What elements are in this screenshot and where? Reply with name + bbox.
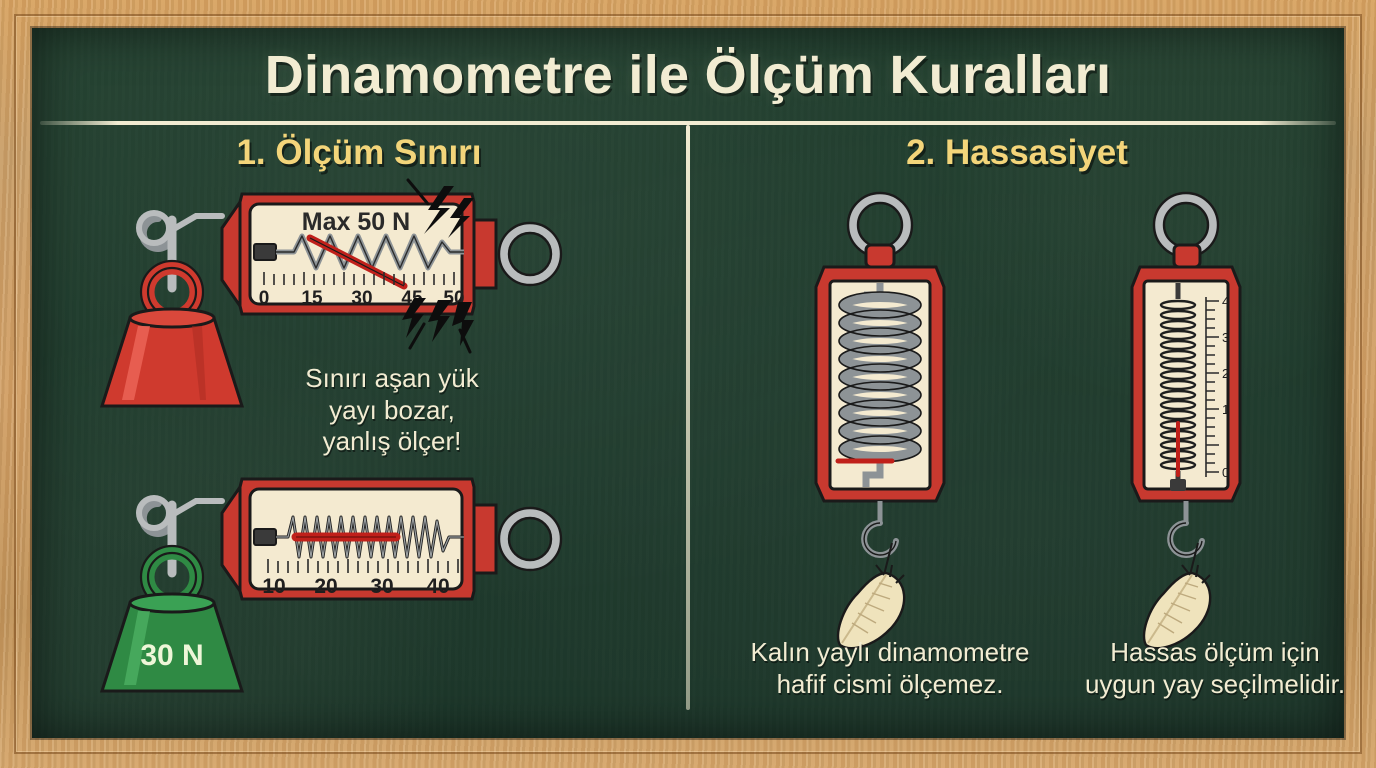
scale-tick-label: 10 (262, 575, 285, 598)
feather-icon (838, 565, 904, 648)
caption-line: Hassas ölçüm için (1050, 637, 1344, 669)
dyn-left-taper (222, 202, 240, 306)
max-capacity-label: Max 50 N (302, 208, 410, 236)
spring-anchor-block (254, 529, 276, 545)
scale-tick-label: 40 (426, 575, 449, 598)
scale-tick-label: 30 (351, 288, 372, 309)
dyn-left-taper (222, 487, 240, 591)
page-title: Dinamometre ile Ölçüm Kuralları (32, 44, 1344, 106)
scale-tick-label: 0 (1222, 465, 1229, 480)
top-nub (1174, 245, 1200, 267)
section-heading-1: 1. Ölçüm Sınırı (32, 133, 686, 173)
thick-spring-caption: Kalın yaylı dinamometre hafif cismi ölçe… (710, 637, 1070, 700)
scale-tick-label: 30 (370, 575, 393, 598)
normal-dynamometer-group: 30 N (72, 465, 632, 725)
caption-line: yayı bozar, (242, 395, 542, 427)
ring-outline-inner (858, 203, 902, 247)
scale-tick-label: 2 (1222, 366, 1229, 381)
scale-tick-label: 4 (1222, 294, 1229, 309)
chalkboard: Dinamometre ile Ölçüm Kuralları 1. Ölçüm… (32, 28, 1344, 738)
top-nub (866, 245, 894, 267)
ring-outline-inner (509, 518, 551, 560)
scale-tick-label: 15 (301, 288, 323, 309)
dyn-right-neck (474, 220, 496, 288)
hook-link-bar (172, 501, 222, 515)
panel-olcum-siniri: 1. Ölçüm Sınırı (32, 125, 686, 738)
thick-coil-spring (839, 283, 921, 487)
panel-hassasiyet: 2. Hassasiyet (690, 125, 1344, 738)
red-weight-top (130, 309, 214, 327)
poster-stage: Dinamometre ile Ölçüm Kuralları 1. Ölçüm… (0, 0, 1376, 768)
green-weight-top (130, 594, 214, 612)
scale-tick-label: 0 (259, 288, 270, 309)
hook-link-bar (172, 216, 222, 230)
thick-spring-dynamometer-group (780, 183, 980, 623)
ring-outline-inner (1164, 203, 1208, 247)
caption-line: Sınırı aşan yük (242, 363, 542, 395)
red-weight-body (102, 318, 242, 406)
scale-tick-label: 3 (1222, 330, 1229, 345)
caption-line: Kalın yaylı dinamometre (710, 637, 1070, 669)
caption-line: uygun yay seçilmelidir. (1050, 669, 1344, 701)
fine-spring-dynamometer-group: 0 1 2 3 4 (1086, 183, 1286, 623)
ring-handle-icon (504, 513, 556, 565)
weight-value-label: 30 N (140, 639, 203, 672)
section-heading-2: 2. Hassasiyet (690, 133, 1344, 173)
ring-outline-inner (509, 233, 551, 275)
ring-handle-icon (504, 228, 556, 280)
caption-line: yanlış ölçer! (242, 426, 542, 458)
scale-tick-label: 1 (1222, 402, 1229, 417)
scale-tick-label: 20 (314, 575, 337, 598)
dyn-right-neck (474, 505, 496, 573)
feather-icon (1144, 565, 1210, 648)
fine-spring-caption: Hassas ölçüm için uygun yay seçilmelidir… (1050, 637, 1344, 700)
spring-anchor-block (254, 244, 276, 260)
caption-line: hafif cismi ölçemez. (710, 669, 1070, 701)
overload-caption: Sınırı aşan yük yayı bozar, yanlış ölçer… (242, 363, 542, 458)
spring-end-block (1170, 479, 1186, 491)
